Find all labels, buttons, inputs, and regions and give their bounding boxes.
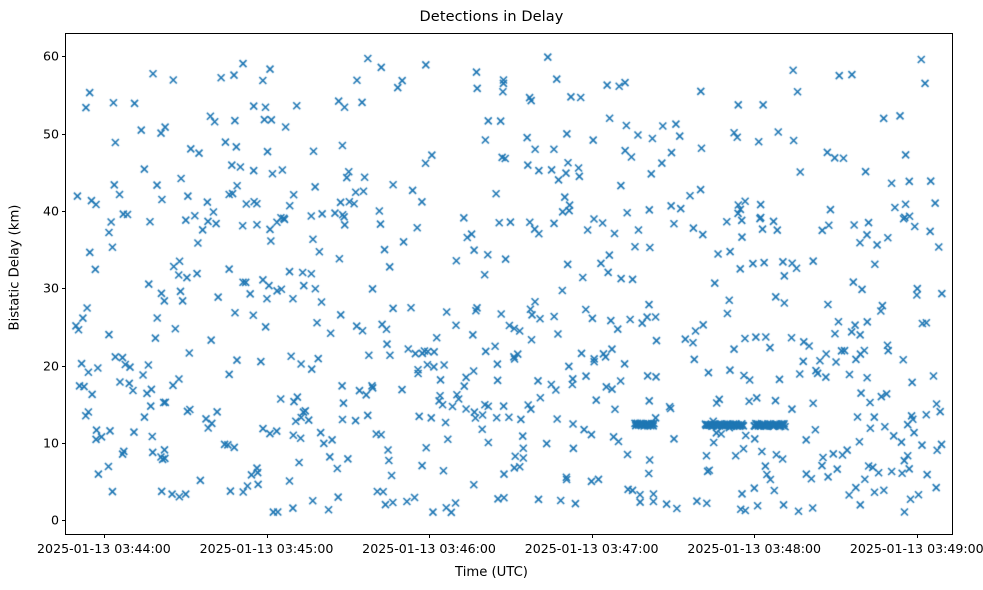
x-tick-label: 2025-01-13 03:46:00 <box>362 541 496 556</box>
scatter-plot-canvas <box>66 34 952 534</box>
x-tick-label: 2025-01-13 03:44:00 <box>37 541 171 556</box>
y-tick-label: 0 <box>51 513 59 528</box>
chart-title: Detections in Delay <box>0 9 983 25</box>
x-tick-mark <box>754 534 755 538</box>
x-tick-mark <box>267 534 268 538</box>
x-axis-label: Time (UTC) <box>0 565 983 580</box>
y-tick-label: 20 <box>43 358 59 373</box>
matplotlib-figure: Detections in Delay 0102030405060 2025-0… <box>0 0 983 590</box>
x-tick-label: 2025-01-13 03:47:00 <box>525 541 659 556</box>
y-tick-label: 10 <box>43 435 59 450</box>
x-tick-label: 2025-01-13 03:49:00 <box>850 541 983 556</box>
x-tick-mark <box>429 534 430 538</box>
y-tick-label: 30 <box>43 281 59 296</box>
plot-axes: 0102030405060 2025-01-13 03:44:002025-01… <box>65 33 953 535</box>
x-tick-mark <box>917 534 918 538</box>
y-tick-label: 40 <box>43 203 59 218</box>
x-tick-mark <box>592 534 593 538</box>
y-tick-label: 50 <box>43 126 59 141</box>
y-axis-label: Bistatic Delay (km) <box>8 18 23 518</box>
y-tick-label: 60 <box>43 49 59 64</box>
x-tick-label: 2025-01-13 03:45:00 <box>200 541 334 556</box>
x-tick-mark <box>104 534 105 538</box>
x-tick-label: 2025-01-13 03:48:00 <box>687 541 821 556</box>
